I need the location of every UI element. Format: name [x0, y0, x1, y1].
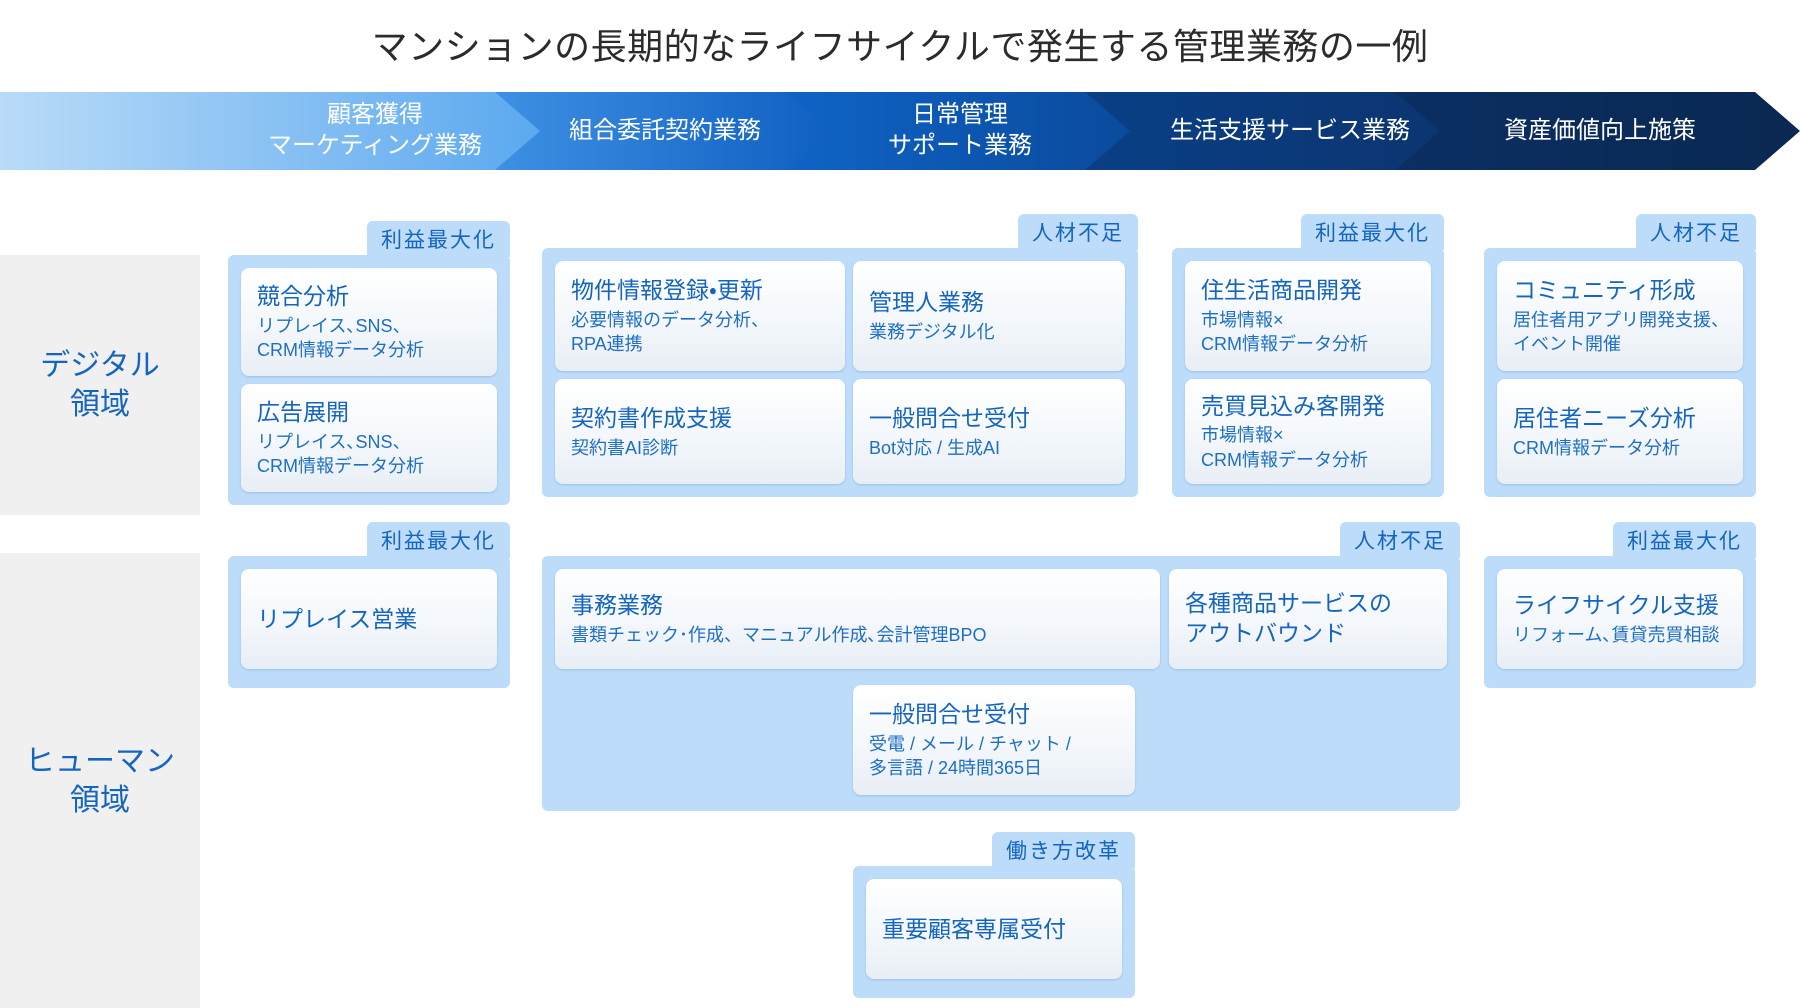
card-title: ライフサイクル支援 — [1513, 591, 1727, 620]
card-sub-line: RPA連携 — [571, 332, 829, 356]
diagram-root: マンションの長期的なライフサイクルで発生する管理業務の一例 — [0, 0, 1800, 1008]
card-sub: 市場情報× CRM情報データ分析 — [1201, 308, 1415, 357]
row-band-human-label: ヒューマン 領域 — [25, 742, 175, 820]
card-product-service-outbound[interactable]: 各種商品サービスの アウトバウンド — [1169, 569, 1447, 669]
card-sub-line: 多言語 / 24時間365日 — [869, 756, 1119, 780]
card-sub: リフォーム､賃貸売買相談 — [1513, 623, 1727, 647]
card-sub: 受電 / メール / チャット / 多言語 / 24時間365日 — [869, 732, 1119, 781]
row-band-human: ヒューマン 領域 — [0, 553, 200, 1008]
phase-line: マーケティング業務 — [268, 131, 482, 162]
card-community-formation[interactable]: コミュニティ形成 居住者用アプリ開発支援、 イベント開催 — [1497, 261, 1743, 371]
phase-line: 資産価値向上施策 — [1504, 116, 1696, 147]
phase-band: 顧客獲得 マーケティング業務 組合委託契約業務 日常管理 サポート業務 生活支援… — [0, 92, 1800, 170]
card-title: リプレイス営業 — [257, 605, 481, 634]
card-sub-line: 居住者用アプリ開発支援、 — [1513, 308, 1727, 332]
group-digital-asset-value: 人材不足 コミュニティ形成 居住者用アプリ開発支援、 イベント開催 居住者ニーズ… — [1484, 248, 1756, 497]
card-sub-line: 契約書AI診断 — [571, 436, 829, 460]
card-property-info-registration[interactable]: 物件情報登録・更新 必要情報のデータ分析、 RPA連携 — [555, 261, 845, 371]
group-human-marketing: 利益最大化 リプレイス営業 — [228, 556, 510, 688]
group-tag-talent-shortage: 人材不足 — [1018, 214, 1138, 250]
phase-label-life-support-service: 生活支援サービス業務 — [1145, 92, 1435, 170]
phase-label-asset-value-improvement: 資産価値向上施策 — [1455, 92, 1745, 170]
card-sub-line: Bot対応 / 生成AI — [869, 436, 1109, 460]
card-sub-line: CRM情報データ分析 — [257, 454, 481, 478]
card-sub-line: リプレイス､SNS、 — [257, 430, 481, 454]
card-sub-line: アウトバウンド — [1185, 618, 1431, 649]
card-manager-operations[interactable]: 管理人業務 業務デジタル化 — [853, 261, 1125, 371]
card-ad-development[interactable]: 広告展開 リプレイス､SNS、 CRM情報データ分析 — [241, 384, 497, 492]
group-human-contract-service: 人材不足 事務業務 書類チェック･作成、マニュアル作成､会計管理BPO 各種商品… — [542, 556, 1460, 811]
card-sub: 契約書AI診断 — [571, 436, 829, 460]
group-digital-life-support: 利益最大化 住生活商品開発 市場情報× CRM情報データ分析 売買見込み客開発 … — [1172, 248, 1444, 497]
row-label-line: デジタル — [40, 346, 159, 385]
card-title: 広告展開 — [257, 398, 481, 427]
card-replace-sales[interactable]: リプレイス営業 — [241, 569, 497, 669]
card-sub-line: CRM情報データ分析 — [1201, 332, 1415, 356]
card-sub: 書類チェック･作成、マニュアル作成､会計管理BPO — [571, 623, 1144, 647]
phase-label-daily-management: 日常管理 サポート業務 — [845, 92, 1075, 170]
card-sub-line: 受電 / メール / チャット / — [869, 732, 1119, 756]
card-contract-creation-support[interactable]: 契約書作成支援 契約書AI診断 — [555, 379, 845, 484]
card-sub: 業務デジタル化 — [869, 320, 1109, 344]
card-general-inquiry-reception-digital[interactable]: 一般問合せ受付 Bot対応 / 生成AI — [853, 379, 1125, 484]
card-sub: Bot対応 / 生成AI — [869, 436, 1109, 460]
card-sub-line: 業務デジタル化 — [869, 320, 1109, 344]
card-office-operations[interactable]: 事務業務 書類チェック･作成、マニュアル作成､会計管理BPO — [555, 569, 1160, 669]
group-tag-talent-shortage: 人材不足 — [1340, 522, 1460, 558]
card-sub: アウトバウンド — [1185, 618, 1431, 649]
group-tag-profit: 利益最大化 — [1301, 214, 1444, 250]
card-sub-line: 市場情報× — [1201, 423, 1415, 447]
phase-line: 生活支援サービス業務 — [1170, 116, 1410, 147]
card-title: 各種商品サービスの — [1185, 589, 1431, 618]
group-tag-work-style-reform: 働き方改革 — [992, 832, 1135, 868]
card-title: 管理人業務 — [869, 288, 1109, 317]
group-tag-talent-shortage: 人材不足 — [1636, 214, 1756, 250]
card-competitive-analysis[interactable]: 競合分析 リプレイス､SNS、 CRM情報データ分析 — [241, 268, 497, 376]
row-band-digital: デジタル 領域 — [0, 255, 200, 515]
card-title: コミュニティ形成 — [1513, 276, 1727, 305]
phase-line: 組合委託契約業務 — [569, 116, 761, 147]
card-sub: 必要情報のデータ分析、 RPA連携 — [571, 308, 829, 357]
card-sub-line: リフォーム､賃貸売買相談 — [1513, 623, 1727, 647]
card-sub-line: CRM情報データ分析 — [257, 338, 481, 362]
card-title: 売買見込み客開発 — [1201, 392, 1415, 421]
card-resident-needs-analysis[interactable]: 居住者ニーズ分析 CRM情報データ分析 — [1497, 379, 1743, 484]
page-title: マンションの長期的なライフサイクルで発生する管理業務の一例 — [0, 18, 1800, 70]
group-digital-contract-daily: 人材不足 物件情報登録・更新 必要情報のデータ分析、 RPA連携 管理人業務 業… — [542, 248, 1138, 497]
card-sub-line: 必要情報のデータ分析、 — [571, 308, 829, 332]
card-sub-line: 市場情報× — [1201, 308, 1415, 332]
card-title: 一般問合せ受付 — [869, 404, 1109, 433]
card-title: 重要顧客専属受付 — [882, 915, 1106, 944]
group-tag-profit: 利益最大化 — [367, 221, 510, 257]
phase-label-customer-acquisition: 顧客獲得 マーケティング業務 — [230, 92, 520, 170]
row-band-digital-label: デジタル 領域 — [40, 346, 159, 424]
card-sub-line: リプレイス､SNS、 — [257, 314, 481, 338]
card-title: 物件情報登録・更新 — [571, 276, 829, 305]
card-sub: CRM情報データ分析 — [1513, 436, 1727, 460]
card-sub: 居住者用アプリ開発支援、 イベント開催 — [1513, 308, 1727, 357]
card-title: 住生活商品開発 — [1201, 276, 1415, 305]
phase-line: 顧客獲得 — [327, 100, 423, 131]
card-sub-line: イベント開催 — [1513, 332, 1727, 356]
row-label-line: 領域 — [25, 781, 175, 820]
card-sub: リプレイス､SNS、 CRM情報データ分析 — [257, 430, 481, 479]
card-sub: 市場情報× CRM情報データ分析 — [1201, 423, 1415, 472]
card-lifecycle-support[interactable]: ライフサイクル支援 リフォーム､賃貸売買相談 — [1497, 569, 1743, 669]
group-human-asset-value: 利益最大化 ライフサイクル支援 リフォーム､賃貸売買相談 — [1484, 556, 1756, 688]
card-sales-prospect-development[interactable]: 売買見込み客開発 市場情報× CRM情報データ分析 — [1185, 379, 1431, 484]
phase-line: 日常管理 — [912, 100, 1008, 131]
card-title: 居住者ニーズ分析 — [1513, 404, 1727, 433]
card-housing-product-development[interactable]: 住生活商品開発 市場情報× CRM情報データ分析 — [1185, 261, 1431, 371]
card-sub: リプレイス､SNS、 CRM情報データ分析 — [257, 314, 481, 363]
card-sub-line: CRM情報データ分析 — [1201, 448, 1415, 472]
card-title: 一般問合せ受付 — [869, 700, 1119, 729]
group-digital-marketing: 利益最大化 競合分析 リプレイス､SNS、 CRM情報データ分析 広告展開 リプ… — [228, 255, 510, 505]
phase-line: サポート業務 — [888, 131, 1032, 162]
card-title: 競合分析 — [257, 282, 481, 311]
row-label-line: ヒューマン — [25, 742, 175, 781]
group-tag-profit: 利益最大化 — [367, 522, 510, 558]
card-sub-line: 書類チェック･作成、マニュアル作成､会計管理BPO — [571, 623, 1144, 647]
phase-label-association-contract: 組合委託契約業務 — [545, 92, 785, 170]
card-vip-dedicated-reception[interactable]: 重要顧客専属受付 — [866, 879, 1122, 979]
card-sub-line: CRM情報データ分析 — [1513, 436, 1727, 460]
group-human-vip-reception: 働き方改革 重要顧客専属受付 — [853, 866, 1135, 998]
group-tag-profit: 利益最大化 — [1613, 522, 1756, 558]
row-label-line: 領域 — [40, 385, 159, 424]
card-title: 契約書作成支援 — [571, 404, 829, 433]
card-title: 事務業務 — [571, 591, 1144, 620]
card-general-inquiry-reception-human[interactable]: 一般問合せ受付 受電 / メール / チャット / 多言語 / 24時間365日 — [853, 685, 1135, 795]
